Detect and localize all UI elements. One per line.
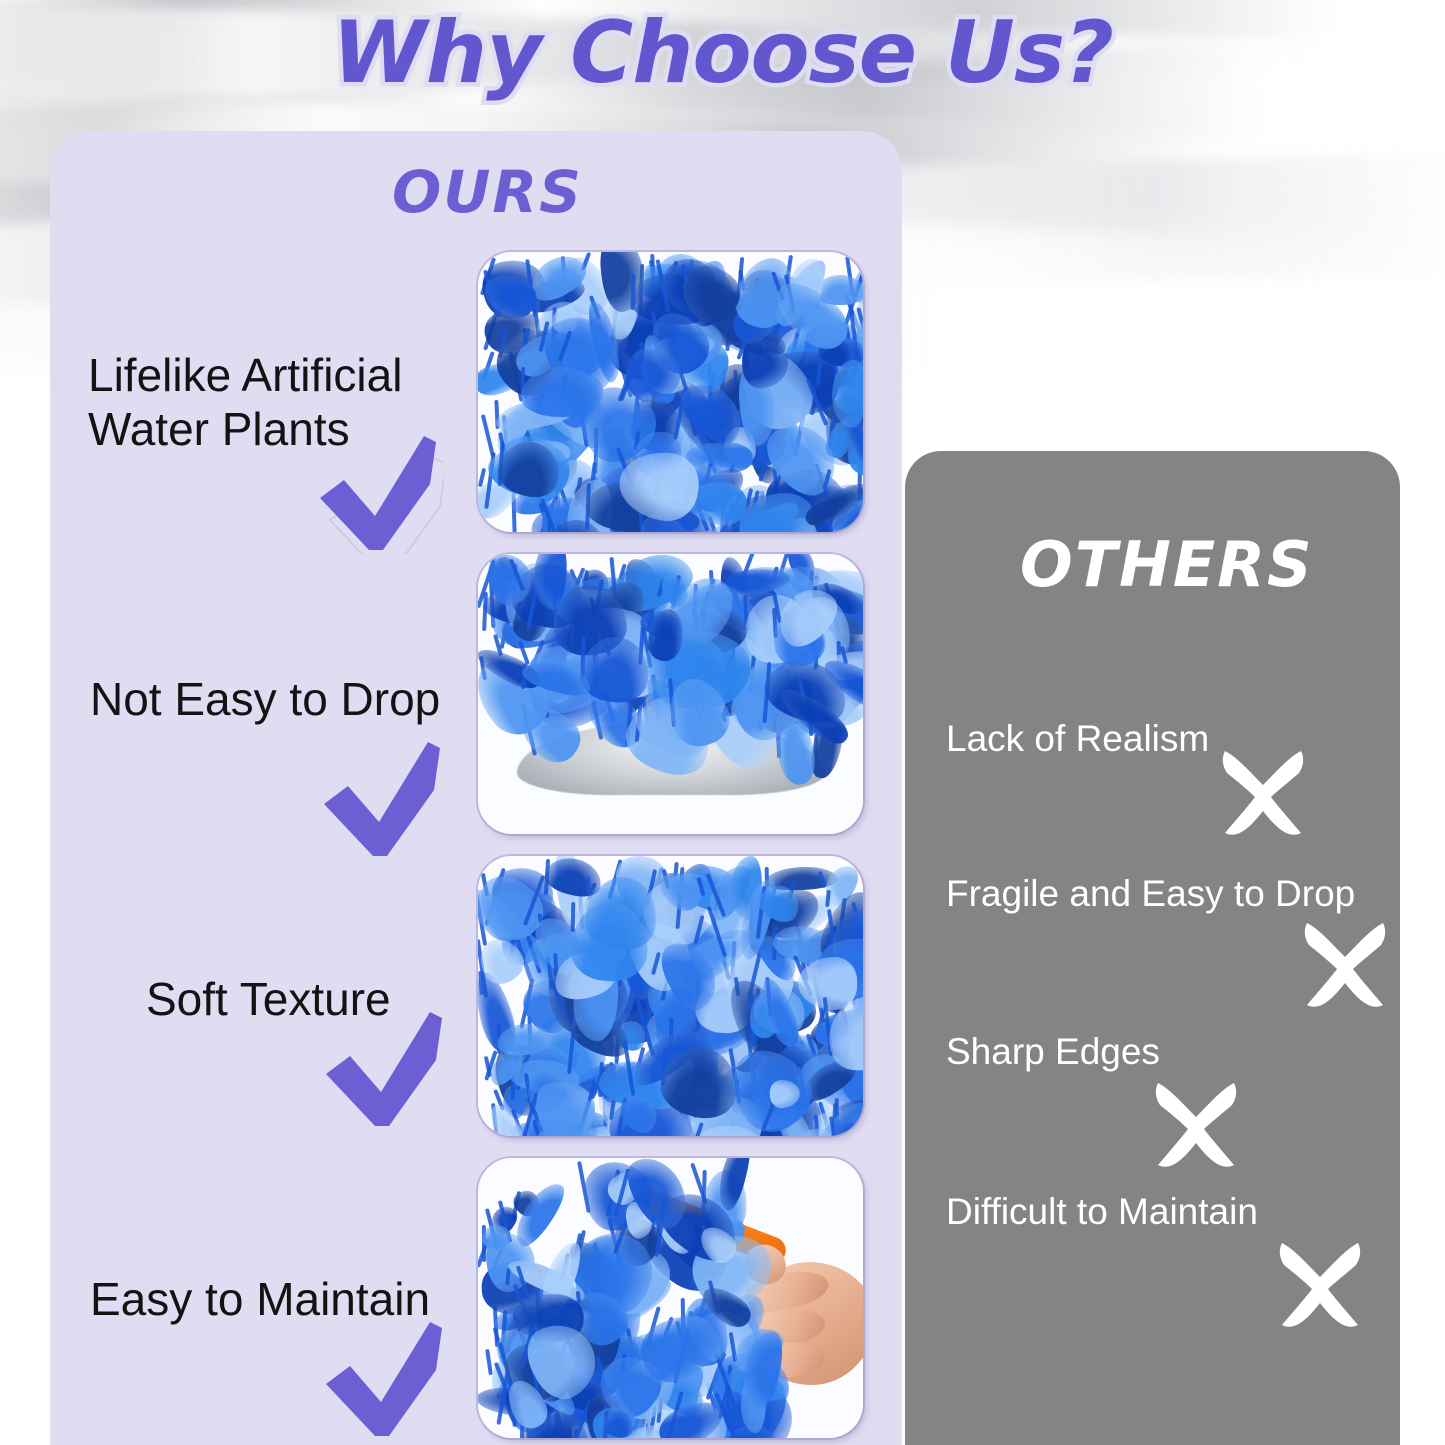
- plant-artwork: [478, 1158, 863, 1438]
- check-icon: [318, 1318, 450, 1440]
- plant-artwork: [478, 554, 863, 834]
- photo-artwork: [478, 856, 863, 1136]
- others-item-label: Fragile and Easy to Drop: [946, 872, 1355, 916]
- plant-artwork: [478, 856, 863, 1136]
- check-icon: [312, 432, 444, 554]
- ours-photo-1: [478, 252, 863, 532]
- ours-photo-3: [478, 856, 863, 1136]
- plant-artwork: [478, 252, 863, 532]
- cross-icon: [1272, 1237, 1368, 1333]
- others-item-label: Lack of Realism: [946, 717, 1209, 761]
- cross-icon: [1215, 745, 1311, 841]
- check-icon: [316, 738, 448, 860]
- cross-icon: [1297, 917, 1393, 1013]
- cross-icon: [1148, 1077, 1244, 1173]
- plant-stem: [546, 520, 551, 532]
- others-heading: OTHERS: [1020, 528, 1314, 601]
- check-icon: [318, 1008, 450, 1130]
- ours-photo-2: [478, 554, 863, 834]
- others-item-label: Difficult to Maintain: [946, 1190, 1258, 1234]
- plant-stem: [585, 877, 590, 895]
- photo-artwork: [478, 1158, 863, 1438]
- plant-stem: [485, 1349, 493, 1375]
- plant-frond: [482, 1225, 512, 1249]
- plant-stem: [481, 414, 496, 458]
- ours-item-label: Not Easy to Drop: [90, 672, 480, 726]
- others-item-label: Sharp Edges: [946, 1030, 1160, 1074]
- ours-heading: OURS: [392, 158, 583, 226]
- page-title: Why Choose Us?: [0, 8, 1445, 98]
- ours-photo-4: [478, 1158, 863, 1438]
- photo-artwork: [478, 252, 863, 532]
- photo-artwork: [478, 554, 863, 834]
